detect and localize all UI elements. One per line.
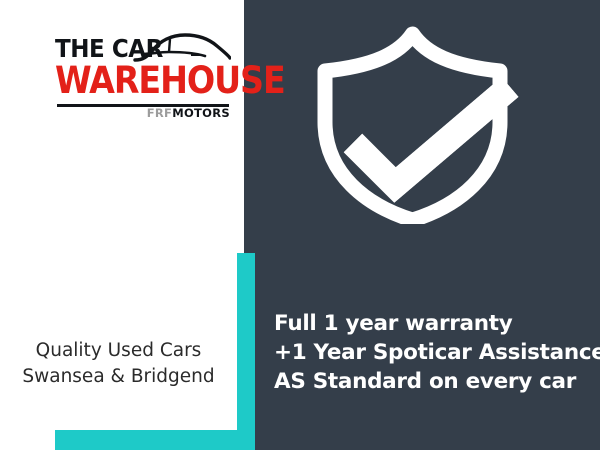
promo-banner: THE CAR WAREHOUSE FRFMOTORS Quality Used… bbox=[0, 0, 600, 450]
tagline: Quality Used Cars Swansea & Bridgend bbox=[0, 338, 237, 391]
logo-sub-motors: MOTORS bbox=[172, 106, 230, 120]
logo-sub-frfmotors: FRFMOTORS bbox=[147, 108, 230, 120]
logo-line-warehouse: WAREHOUSE bbox=[55, 62, 285, 99]
tagline-line-1: Quality Used Cars bbox=[0, 338, 237, 364]
warranty-line-1: Full 1 year warranty bbox=[274, 309, 594, 338]
warranty-line-3: AS Standard on every car bbox=[274, 367, 594, 396]
shield-check-icon bbox=[311, 26, 539, 224]
warranty-copy: Full 1 year warranty +1 Year Spoticar As… bbox=[274, 309, 594, 397]
tagline-line-2: Swansea & Bridgend bbox=[0, 364, 237, 390]
warranty-line-2: +1 Year Spoticar Assistance bbox=[274, 338, 594, 367]
logo-sub-frf: FRF bbox=[147, 106, 172, 120]
brand-logo: THE CAR WAREHOUSE FRFMOTORS bbox=[55, 28, 230, 113]
teal-accent-vertical bbox=[237, 253, 255, 450]
teal-accent-horizontal bbox=[55, 430, 255, 450]
